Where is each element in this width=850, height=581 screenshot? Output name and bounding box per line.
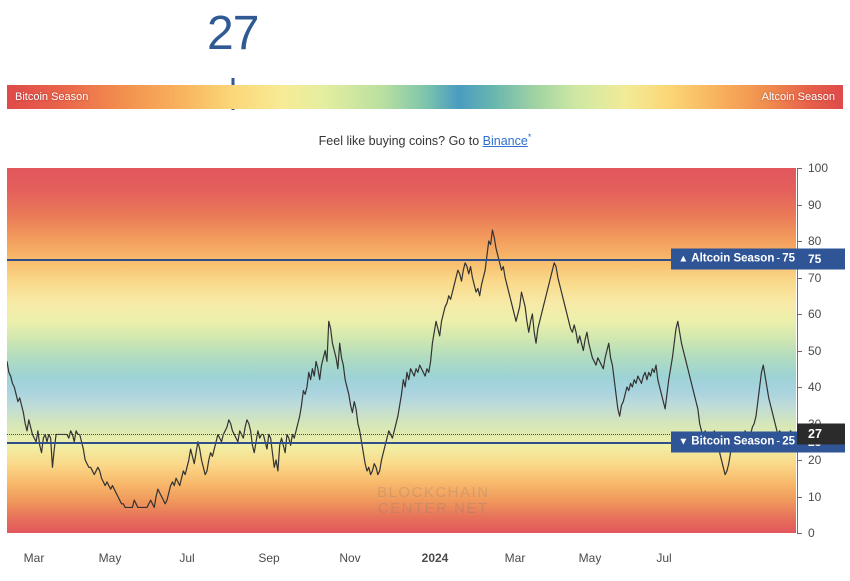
y-tick-label: 100 <box>808 161 828 175</box>
x-tick-label: 2024 <box>422 551 449 565</box>
y-tick-mark <box>797 314 802 315</box>
y-tick-label: 90 <box>808 198 821 212</box>
y-tick-label: 20 <box>808 453 821 467</box>
index-value: 27 <box>207 6 258 61</box>
y-tick-label: 50 <box>808 344 821 358</box>
series-line-altcoin-season-index <box>7 230 796 507</box>
current-value-label: 27 <box>808 427 822 441</box>
promo-text: Feel like buying coins? Go to <box>319 134 483 148</box>
promo-asterisk: * <box>528 132 532 142</box>
y-tick-mark <box>797 205 802 206</box>
bitcoin-badge-value: 25 <box>782 435 795 447</box>
x-tick-label: Sep <box>258 551 279 565</box>
y-tick-label: 80 <box>808 234 821 248</box>
bitcoin-season-threshold-badge[interactable]: ▼Bitcoin Season-25 <box>671 431 803 452</box>
y-tick-label: 40 <box>808 380 821 394</box>
altcoin-season-index-chart: BLOCKCHAIN CENTER.NET 010203040506070809… <box>0 163 850 581</box>
y-tick-mark <box>797 497 802 498</box>
y-tick-mark <box>797 387 802 388</box>
x-tick-label: Nov <box>339 551 360 565</box>
bitcoin-season-label: Bitcoin Season <box>15 91 88 103</box>
altcoin-badge-label: Altcoin Season <box>691 253 774 265</box>
y-tick-mark <box>797 533 802 534</box>
x-tick-label: Jul <box>179 551 194 565</box>
y-tick-mark <box>797 168 802 169</box>
x-tick-label: May <box>579 551 602 565</box>
season-gradient-bar: Bitcoin Season Altcoin Season <box>7 85 843 109</box>
binance-link[interactable]: Binance <box>483 134 528 148</box>
x-tick-label: Mar <box>24 551 45 565</box>
y-tick-mark <box>797 460 802 461</box>
altcoin-badge-dash: - <box>776 253 780 265</box>
x-tick-label: May <box>99 551 122 565</box>
y-tick-label: 70 <box>808 271 821 285</box>
x-tick-label: Mar <box>505 551 526 565</box>
bitcoin-badge-dash: - <box>776 435 780 447</box>
up-triangle-icon: ▲ <box>678 254 688 265</box>
y-tick-label: 10 <box>808 490 821 504</box>
bitcoin-badge-label: Bitcoin Season <box>691 435 774 447</box>
chart-series-svg <box>7 168 796 533</box>
y-tick-label: 0 <box>808 526 815 540</box>
chart-plot-area: BLOCKCHAIN CENTER.NET <box>7 168 796 533</box>
y-tick-label: 60 <box>808 307 821 321</box>
promo-line: Feel like buying coins? Go to Binance* <box>0 132 850 148</box>
index-readout: 27 <box>0 0 850 82</box>
x-tick-label: Jul <box>656 551 671 565</box>
altcoin-season-threshold-badge[interactable]: ▲Altcoin Season-75 <box>671 249 803 270</box>
altcoin-threshold-value: 75 <box>808 252 821 266</box>
altcoin-badge-value: 75 <box>782 253 795 265</box>
altcoin-season-label: Altcoin Season <box>762 91 835 103</box>
y-tick-mark <box>797 351 802 352</box>
down-triangle-icon: ▼ <box>678 436 688 447</box>
y-tick-mark <box>797 241 802 242</box>
y-tick-mark <box>797 278 802 279</box>
